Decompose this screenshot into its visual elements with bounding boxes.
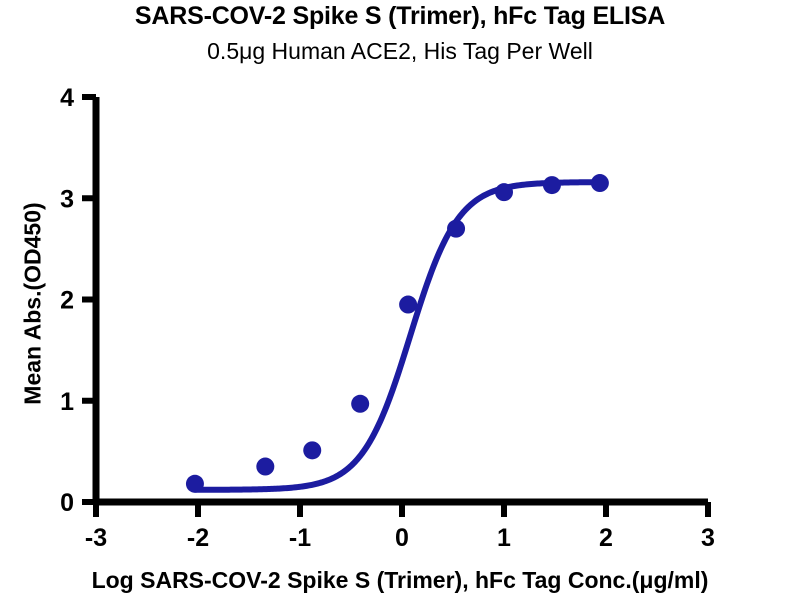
data-point bbox=[399, 296, 417, 314]
data-point bbox=[186, 475, 204, 493]
y-tick-label: 0 bbox=[60, 489, 74, 517]
y-tick-label: 1 bbox=[60, 388, 74, 416]
data-point bbox=[303, 441, 321, 459]
x-tick-label: 0 bbox=[395, 524, 409, 552]
plot-area: 01234 -3-2-10123 bbox=[0, 0, 800, 600]
data-point bbox=[543, 176, 561, 194]
data-point bbox=[447, 220, 465, 238]
axis-lines bbox=[93, 97, 708, 502]
y-axis-ticks: 01234 bbox=[60, 84, 96, 517]
x-axis-ticks: -3-2-10123 bbox=[85, 502, 715, 552]
x-tick-label: 3 bbox=[701, 524, 715, 552]
data-point bbox=[256, 458, 274, 476]
data-point bbox=[495, 183, 513, 201]
x-tick-label: -2 bbox=[187, 524, 209, 552]
fit-curve-path bbox=[195, 182, 600, 490]
x-tick-label: 1 bbox=[497, 524, 511, 552]
x-tick-label: -3 bbox=[85, 524, 107, 552]
x-tick-label: -1 bbox=[289, 524, 311, 552]
y-tick-label: 4 bbox=[60, 84, 74, 112]
y-tick-label: 3 bbox=[60, 185, 74, 213]
y-tick-label: 2 bbox=[60, 287, 74, 315]
data-point bbox=[591, 174, 609, 192]
elisa-chart-figure: SARS-COV-2 Spike S (Trimer), hFc Tag ELI… bbox=[0, 0, 800, 600]
data-point bbox=[351, 395, 369, 413]
data-point-markers bbox=[186, 174, 609, 493]
fit-curve bbox=[195, 182, 600, 490]
x-tick-label: 2 bbox=[599, 524, 613, 552]
